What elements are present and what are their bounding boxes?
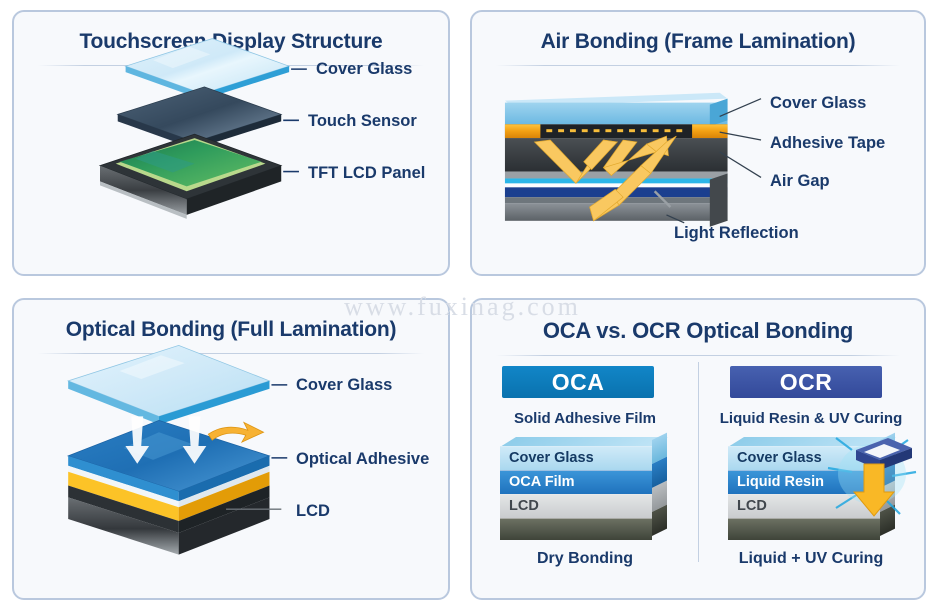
callout-leader-lines	[472, 12, 924, 274]
layer-oca-film: OCA Film	[500, 470, 652, 494]
uv-curing-lamp-illustration	[822, 428, 926, 538]
comparison-column-oca: OCA Solid Adhesive Film Cover Glass OCA …	[472, 300, 698, 598]
panel-optical-bonding: Optical Bonding (Full Lamination)	[12, 298, 450, 600]
label-cover-glass: Cover Glass	[296, 376, 392, 395]
stack-diagram-oca: Cover Glass OCA Film LCD	[500, 446, 652, 540]
panel-oca-vs-ocr: OCA vs. OCR Optical Bonding OCA Solid Ad…	[470, 298, 926, 600]
panel-air-bonding: Air Bonding (Frame Lamination)	[470, 10, 926, 276]
layer-lcd: LCD	[500, 494, 652, 518]
exploded-stack-illustration	[14, 12, 448, 274]
label-optical-adhesive: Optical Adhesive	[296, 450, 429, 469]
caption-ocr-footer: Liquid + UV Curing	[698, 550, 924, 568]
label-cover-glass: Cover Glass	[316, 60, 412, 79]
label-tft-lcd-panel: TFT LCD Panel	[308, 164, 425, 183]
label-touch-sensor: Touch Sensor	[308, 112, 417, 131]
panel-touchscreen-structure: Touchscreen Display Structure	[12, 10, 450, 276]
layer-cover-glass: Cover Glass	[500, 446, 652, 470]
caption-oca-footer: Dry Bonding	[472, 550, 698, 568]
layer-base-slab	[500, 518, 652, 540]
optical-adhesive-and-lcd-block	[68, 420, 269, 554]
optical-bonding-illustration	[14, 300, 448, 598]
diagram-canvas: Touchscreen Display Structure	[0, 0, 938, 612]
badge-oca: OCA	[502, 366, 654, 398]
caption-ocr-subtitle: Liquid Resin & UV Curing	[698, 410, 924, 427]
cover-glass-plate	[68, 345, 269, 424]
comparison-column-ocr: OCR Liquid Resin & UV Curing Cover Glass…	[698, 300, 924, 598]
caption-oca-subtitle: Solid Adhesive Film	[472, 410, 698, 427]
label-lcd: LCD	[296, 502, 330, 521]
tft-lcd-panel	[100, 134, 281, 219]
badge-ocr: OCR	[730, 366, 882, 398]
